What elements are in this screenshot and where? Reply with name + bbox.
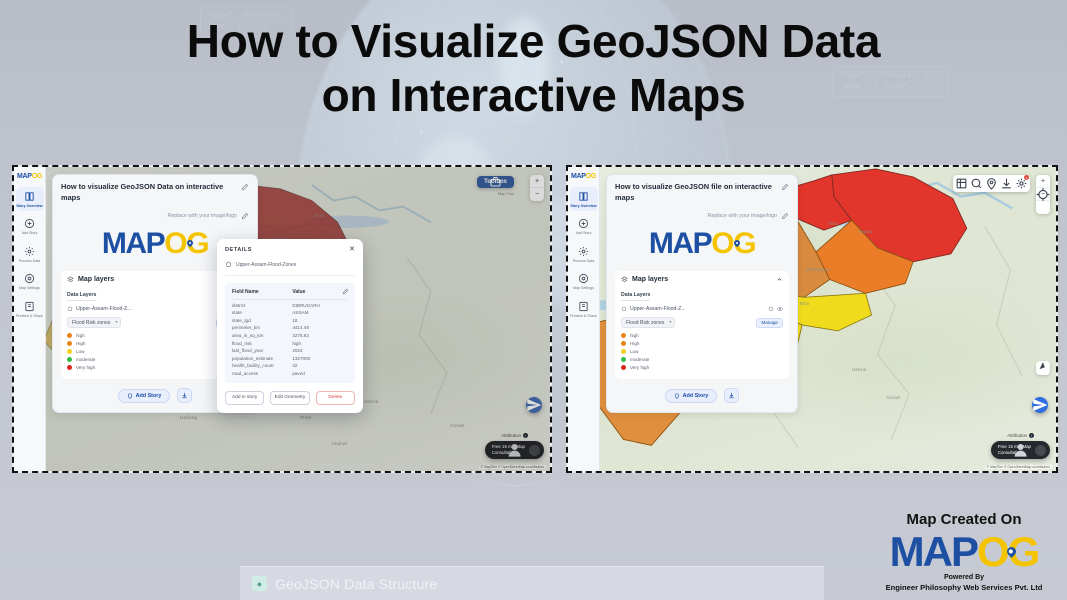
field-name-cell: flood_risk	[232, 338, 292, 346]
map-place-label: Tezu	[828, 221, 839, 226]
legend-swatch	[621, 365, 626, 370]
column-header-field: Field Name	[232, 289, 292, 300]
field-value-cell: 1327000	[292, 353, 348, 361]
legend-right: high High Low moderate Very high	[621, 333, 783, 370]
sidebar-item-preview-share[interactable]: Preview & Share	[16, 297, 44, 321]
attribution-toggle-left[interactable]: Attribution i	[501, 433, 528, 438]
map-created-on-label: Map Created On	[875, 512, 1053, 529]
story-header: How to visualize GeoJSON file on interac…	[615, 182, 789, 203]
add-story-label: Add Story	[683, 393, 709, 399]
sidebar-item-process-data[interactable]: Process Data	[570, 242, 598, 266]
rail-logo-accent: OG	[32, 173, 42, 180]
rail-logo-main: MAP	[17, 173, 32, 180]
table-header: Field Name Value	[232, 289, 348, 300]
geojson-file-icon: ●	[252, 576, 267, 591]
map-place-label: Aizawl	[450, 423, 464, 428]
add-story-button[interactable]: Add Story	[118, 389, 171, 403]
rail-logo: MAPOG	[571, 173, 596, 180]
sidebar-item-process-data[interactable]: Process Data	[16, 242, 44, 266]
field-value-cell: 42	[292, 361, 348, 369]
toolbox-button[interactable]: Toolbox	[477, 176, 514, 188]
map-layers-title: Map layers	[632, 276, 772, 283]
layers-icon	[621, 276, 628, 283]
mapog-wordmark: MAPOG	[102, 229, 208, 259]
delete-button[interactable]: Delete	[316, 391, 355, 405]
mapog-wordmark: MAPOG	[649, 229, 755, 259]
field-value-cell: 18	[292, 315, 348, 323]
sidebar-label: Preview & Share	[570, 314, 597, 318]
sidebar-label: Story Overview	[570, 204, 596, 208]
layers-icon	[67, 276, 74, 283]
zoom-in-button[interactable]: +	[530, 175, 544, 188]
gear-icon	[578, 246, 589, 257]
zoom-controls-left[interactable]: + −	[530, 175, 544, 201]
pencil-icon[interactable]	[781, 183, 789, 191]
rail-logo-main: MAP	[571, 173, 586, 180]
geojson-structure-strip[interactable]: ● GeoJSON Data Structure	[240, 566, 824, 600]
consult-pill-right[interactable]: Free 15 min Map Consultation	[991, 441, 1050, 459]
add-story-label: Add Story	[136, 393, 162, 399]
screenshot-panel-left: ZiraGomellaPanginTinsukiaNaharkatiaTezuN…	[12, 165, 552, 473]
field-name-cell: population_estimate	[232, 353, 292, 361]
replace-logo-label: Replace with your image/logo	[708, 213, 778, 219]
chevron-up-icon[interactable]	[776, 276, 783, 283]
data-layers-label: Data Layers	[67, 292, 96, 301]
legend-label: Low	[630, 349, 638, 354]
wordmark-main: MAP	[102, 227, 164, 260]
field-value-cell: ASSAM	[292, 308, 348, 316]
legend-swatch	[621, 357, 626, 362]
attribution-label: Attribution	[501, 433, 521, 438]
map-place-label: Ukhrul	[364, 399, 378, 404]
map-place-label: Phek	[300, 415, 311, 420]
sidebar-label: Process Data	[19, 259, 41, 263]
field-name-cell: state	[232, 308, 292, 316]
sidebar-label: Preview & Share	[16, 314, 43, 318]
attribution-info-icon: i	[523, 433, 528, 438]
story-title: How to visualize GeoJSON Data on interac…	[61, 182, 236, 203]
company-name: Engineer Philosophy Web Services Pvt. Lt…	[875, 583, 1053, 592]
legend-label: moderate	[76, 357, 95, 362]
eye-icon[interactable]	[777, 306, 783, 312]
download-icon	[181, 392, 188, 399]
legend-swatch	[621, 333, 626, 338]
chat-fab-button[interactable]	[526, 397, 542, 413]
consult-avatar	[529, 445, 540, 456]
send-icon	[526, 397, 542, 413]
map-place-label: Haflong	[180, 415, 197, 420]
sidebar-label: Process Data	[573, 259, 595, 263]
download-icon	[728, 392, 735, 399]
locate-me-button[interactable]	[1036, 201, 1050, 214]
legend-swatch	[67, 333, 72, 338]
map-place-label: Ukhrul	[852, 367, 866, 372]
sidebar-label: Add Story	[576, 231, 592, 235]
sidebar-label: Add Story	[22, 231, 38, 235]
sidebar-item-story-overview[interactable]: Story Overview	[16, 187, 44, 211]
legend-label: Very high	[630, 365, 649, 370]
attribution-info-icon: i	[1029, 433, 1034, 438]
close-icon[interactable]: ✕	[349, 246, 355, 253]
layer-name: Upper-Assam-Flood-Z...	[630, 306, 765, 312]
field-name-cell: district	[232, 300, 292, 308]
sidebar-item-story-overview[interactable]: Story Overview	[570, 187, 598, 211]
chat-fab-button[interactable]	[1032, 397, 1048, 413]
sidebar-item-add-story[interactable]: Add Story	[570, 214, 598, 238]
field-value-cell: high	[292, 338, 348, 346]
field-value-cell: paved	[292, 368, 348, 376]
download-button[interactable]	[177, 388, 192, 403]
story-logo: MAPOG	[615, 220, 789, 269]
pencil-icon[interactable]	[241, 183, 249, 191]
attribution-toggle-right[interactable]: Attribution i	[1007, 433, 1034, 438]
person-icon	[991, 441, 1050, 459]
table-row: last_flood_year2024	[232, 346, 348, 354]
legend-label: high	[630, 333, 639, 338]
share-icon	[578, 301, 589, 312]
add-in-story-button[interactable]: Add in story	[225, 391, 264, 405]
legend-swatch	[67, 365, 72, 370]
details-dialog: DETAILS ✕ Upper-Assam-Flood-Zones Field …	[217, 239, 363, 413]
toolbox-icon	[477, 176, 514, 188]
screenshot-panel-right: ZiroPanginTezuItanagarSepoaNaziraJorhatC…	[566, 165, 1058, 473]
field-name-cell: perimeter_km	[232, 323, 292, 331]
locate-button[interactable]	[984, 177, 999, 190]
boundary	[407, 258, 447, 414]
table-row: state_lgd18	[232, 315, 348, 323]
story-footer: Add Story	[615, 388, 789, 403]
map-place-label: Changlang	[806, 267, 830, 272]
pencil-icon[interactable]	[342, 288, 349, 295]
map-place-label: Mon	[800, 301, 810, 306]
story-header: How to visualize GeoJSON Data on interac…	[61, 182, 249, 203]
plus-circle-icon	[24, 218, 35, 229]
notification-badge: 1	[1024, 175, 1029, 180]
share-icon	[24, 301, 35, 312]
legend-label: High	[630, 341, 639, 346]
search-button[interactable]	[969, 177, 984, 190]
sidebar-item-map-settings[interactable]: Map Settings	[570, 269, 598, 293]
field-name-cell: area_in_sq_km	[232, 330, 292, 338]
pin-icon	[674, 393, 680, 399]
map-toolbar-right[interactable]: 1	[953, 175, 1030, 192]
layer-row[interactable]: Upper-Assam-Flood-Z...	[621, 306, 783, 312]
footer-logo-main: MAP	[890, 528, 977, 575]
book-icon	[24, 191, 35, 202]
sidebar-item-preview-share[interactable]: Preview & Share	[570, 297, 598, 321]
legend-swatch	[67, 357, 72, 362]
story-title: How to visualize GeoJSON file on interac…	[615, 182, 776, 203]
map-place-label: Imphal	[332, 441, 347, 446]
legend-label: moderate	[630, 357, 649, 362]
left-rail-right-panel: MAPOG Story Overview Add Story Process D…	[568, 167, 600, 471]
table-row: area_in_sq_km3275.83	[232, 330, 348, 338]
footer-branding: Map Created On MAPOG Powered By Engineer…	[875, 512, 1053, 592]
polygon-icon	[67, 306, 73, 312]
table-row: population_estimate1327000	[232, 353, 348, 361]
pencil-icon[interactable]	[241, 212, 249, 220]
gear-icon	[24, 246, 35, 257]
compass-icon	[1036, 361, 1050, 375]
attribution-label: Attribution	[1007, 433, 1027, 438]
table-row: flood_riskhigh	[232, 338, 348, 346]
download-button[interactable]	[724, 388, 739, 403]
attributes-table: Field Name Value districtDIBRUGARHstateA…	[232, 289, 348, 376]
field-name-cell: last_flood_year	[232, 346, 292, 354]
field-value-cell: DIBRUGARH	[292, 300, 348, 308]
legend-label: High	[76, 341, 85, 346]
legend-swatch	[67, 349, 72, 354]
table-row: districtDIBRUGARH	[232, 300, 348, 308]
sidebar-label: Map Settings	[573, 286, 594, 290]
polygon-icon	[225, 261, 232, 268]
dialog-feature-row: Upper-Assam-Flood-Zones	[225, 261, 355, 276]
page-title: How to Visualize GeoJSON Data on Interac…	[0, 14, 1067, 123]
add-story-button[interactable]: Add Story	[665, 389, 718, 403]
layer-name: Upper-Assam-Flood-Z...	[76, 306, 225, 312]
table-header-row: Field Name Value	[232, 289, 348, 300]
book-icon	[578, 191, 589, 202]
legend-item: moderate	[621, 357, 783, 362]
field-value-cell: 2024	[292, 346, 348, 354]
replace-logo-row[interactable]: Replace with your image/logo	[615, 211, 789, 220]
story-card-right: How to visualize GeoJSON file on interac…	[606, 174, 798, 413]
sidebar-label: Map Settings	[19, 286, 40, 290]
layers-button[interactable]	[954, 177, 969, 190]
rail-logo: MAPOG	[17, 173, 42, 180]
location-icon	[984, 177, 999, 190]
legend-swatch	[67, 341, 72, 346]
sidebar-item-map-settings[interactable]: Map Settings	[16, 269, 44, 293]
field-name-cell: road_access	[232, 368, 292, 376]
crosshair-icon	[1036, 175, 1050, 214]
osm-attribution-left: © MapTiler © OpenStreetMap contributors	[479, 465, 546, 469]
map-layers-title: Map layers	[78, 276, 232, 283]
map-place-label: Tezu	[314, 213, 325, 218]
legend-label: Low	[76, 349, 84, 354]
send-icon	[1032, 397, 1048, 413]
field-name-cell: health_facility_count	[232, 361, 292, 369]
layers-icon	[954, 177, 969, 190]
sliders-icon	[24, 273, 35, 284]
dialog-title: DETAILS	[225, 247, 349, 253]
style-select[interactable]: Flood Risk zones	[67, 317, 121, 328]
footer-mapog-logo: MAPOG	[890, 531, 1039, 573]
sidebar-label: Story Overview	[16, 204, 42, 208]
pencil-icon[interactable]	[781, 212, 789, 220]
toolbox-caption: Map Tool	[498, 191, 514, 196]
data-layers-label: Data Layers	[621, 292, 650, 301]
map-place-label: Aizawl	[886, 395, 900, 400]
table-row: perimeter_km4414.49	[232, 323, 348, 331]
person-icon	[485, 441, 544, 459]
download-icon	[999, 177, 1014, 190]
download-map-button[interactable]	[999, 177, 1014, 190]
legend-item: Low	[621, 349, 783, 354]
legend-swatch	[621, 349, 626, 354]
osm-attribution-right: © MapTiler © OpenStreetMap contributors	[985, 465, 1052, 469]
replace-logo-row[interactable]: Replace with your image/logo	[61, 211, 249, 220]
plus-circle-icon	[578, 218, 589, 229]
legend-item: high	[621, 333, 783, 338]
consult-avatar	[1035, 445, 1046, 456]
rail-logo-accent: OG	[586, 173, 596, 180]
map-layers-header[interactable]: Map layers	[621, 276, 783, 283]
attributes-table-wrap: Field Name Value districtDIBRUGARHstateA…	[225, 283, 355, 383]
sliders-icon	[578, 273, 589, 284]
dialog-footer: Add in story Edit Geometry Delete	[225, 391, 355, 405]
edit-geometry-button[interactable]: Edit Geometry	[270, 391, 309, 405]
legend-label: Very high	[76, 365, 95, 370]
sidebar-item-add-story[interactable]: Add Story	[16, 214, 44, 238]
layer-style-row: Flood Risk zones Manage	[621, 317, 783, 328]
zoom-controls-right[interactable]: + −	[1036, 175, 1050, 214]
dialog-header: DETAILS ✕	[225, 246, 355, 253]
feature-name: Upper-Assam-Flood-Zones	[236, 262, 296, 268]
style-select[interactable]: Flood Risk zones	[621, 317, 675, 328]
map-settings-button[interactable]: 1	[1014, 177, 1029, 190]
legend-item: Very high	[621, 365, 783, 370]
table-row: health_facility_count42	[232, 361, 348, 369]
consult-pill-left[interactable]: Free 15 min Map Consultation	[485, 441, 544, 459]
search-icon[interactable]	[768, 306, 774, 312]
pin-icon	[127, 393, 133, 399]
search-icon	[969, 177, 984, 190]
left-rail-left-panel: MAPOG Story Overview Add Story Process D…	[14, 167, 46, 471]
map-layers-card: Map layers Data Layers Upper-Assam-Flood…	[615, 271, 789, 379]
manage-button[interactable]: Manage	[756, 318, 783, 328]
replace-logo-label: Replace with your image/logo	[168, 213, 238, 219]
compass-button[interactable]	[1036, 361, 1050, 375]
page-title-line1: How to Visualize GeoJSON Data	[0, 14, 1067, 68]
boundary	[985, 226, 1023, 376]
field-value-cell: 4414.49	[292, 323, 348, 331]
legend-item: High	[621, 341, 783, 346]
legend-label: high	[76, 333, 85, 338]
page-title-line2: on Interactive Maps	[0, 68, 1067, 122]
column-header-value: Value	[292, 289, 348, 300]
polygon-icon	[621, 306, 627, 312]
table-row: stateASSAM	[232, 308, 348, 316]
powered-by-label: Powered By	[875, 574, 1053, 583]
table-body: districtDIBRUGARHstateASSAMstate_lgd18pe…	[232, 300, 348, 376]
wordmark-main: MAP	[649, 227, 711, 260]
zoom-out-button[interactable]: −	[530, 188, 544, 201]
field-name-cell: state_lgd	[232, 315, 292, 323]
network-dot	[420, 130, 423, 133]
map-place-label: Sepoa	[858, 229, 872, 234]
field-value-cell: 3275.83	[292, 330, 348, 338]
geojson-structure-label: GeoJSON Data Structure	[275, 576, 437, 592]
legend-swatch	[621, 341, 626, 346]
table-row: road_accesspaved	[232, 368, 348, 376]
